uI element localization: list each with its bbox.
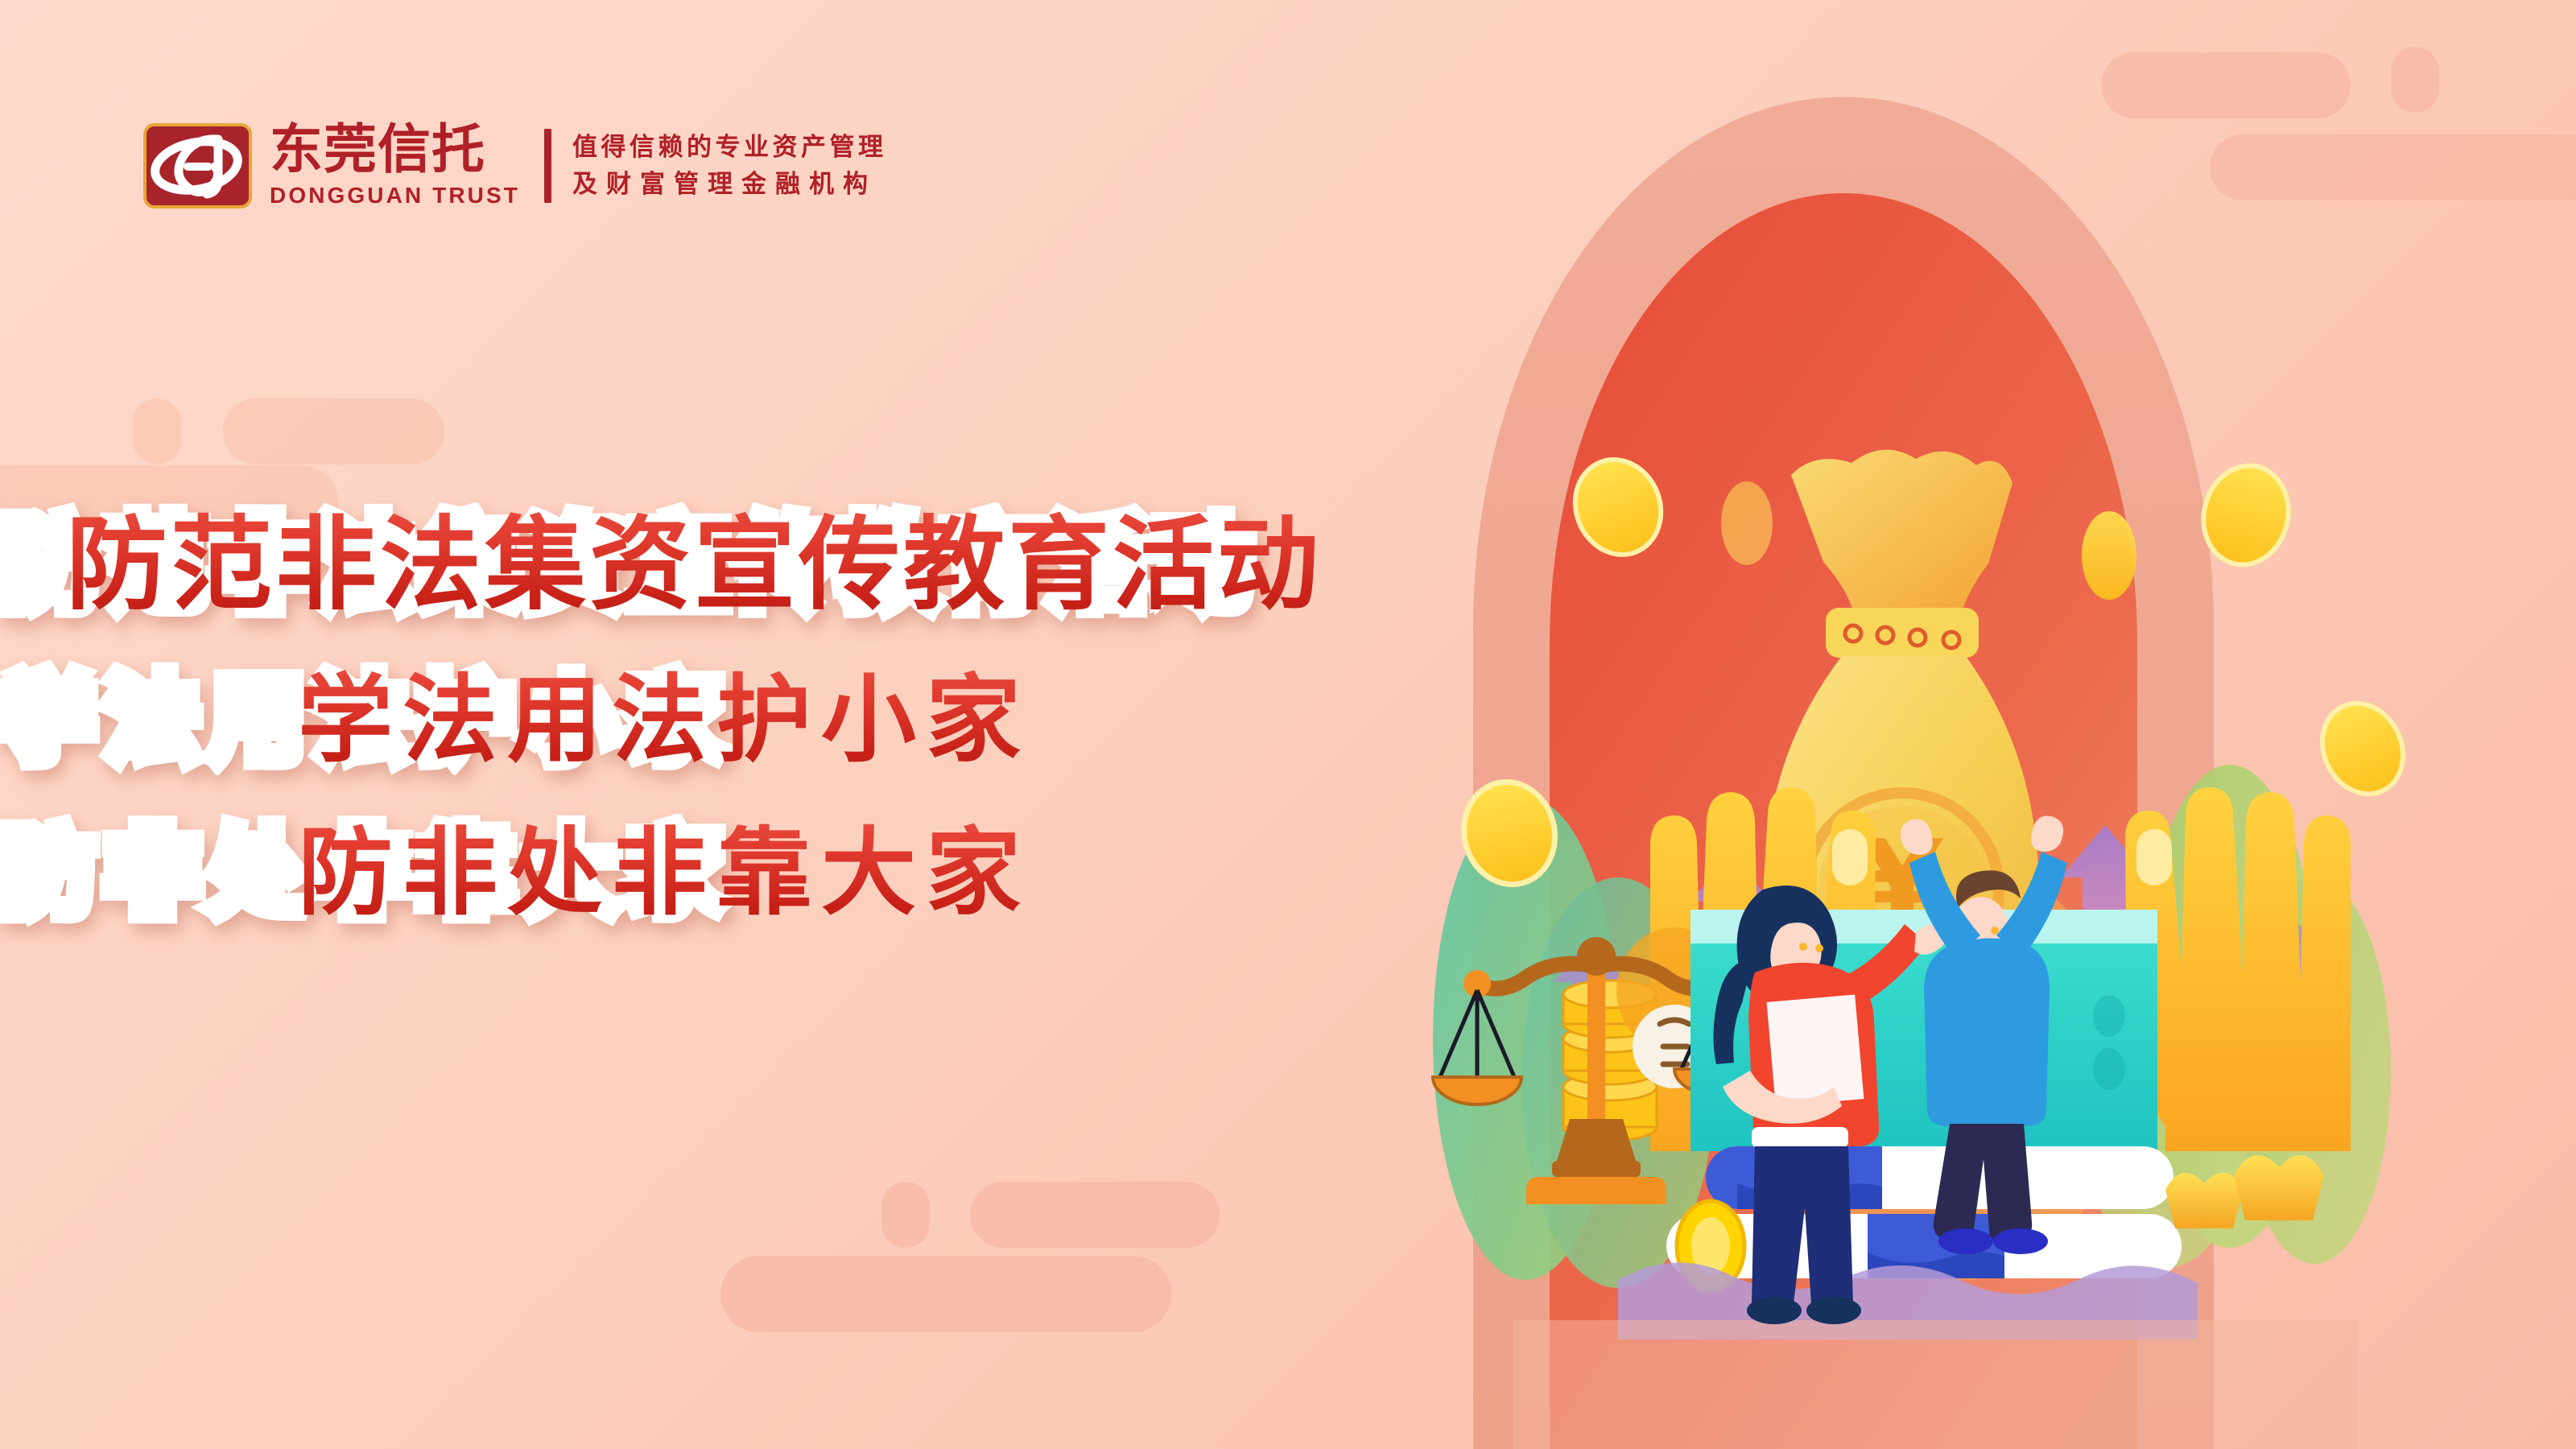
promotional-banner: ¥: [0, 0, 2576, 1449]
deco-bar-bottom-2: [720, 1256, 1171, 1332]
brand-tagline: 值得信赖的专业资产管理 及财富管理金融机构: [572, 134, 887, 198]
deco-bar-bottom-1: [970, 1182, 1220, 1248]
headline-line-3: 防非处非靠大家 防非处非靠大家: [0, 795, 1368, 916]
tagline-line-2: 及财富管理金融机构: [572, 171, 887, 198]
tagline-line-1: 值得信赖的专业资产管理: [572, 134, 887, 161]
deco-dot-left: [133, 398, 181, 464]
headline-line-1-text: 防范非法集资宣传教育活动: [66, 483, 1368, 630]
dongguan-trust-monogram-icon: [143, 123, 252, 208]
brand-logo-block[interactable]: 东莞信托 DONGGUAN TRUST 值得信赖的专业资产管理 及财富管理金融机…: [143, 122, 886, 208]
deco-bar-left-1: [223, 398, 444, 464]
brand-name-en: DONGGUAN TRUST: [270, 182, 520, 209]
finance-illustration: ¥: [1352, 0, 2576, 1449]
logo-divider: [544, 129, 551, 203]
headline-line-2: 学法用法护小家 学法用法护小家: [0, 642, 1368, 763]
headline-line-2-text: 学法用法护小家: [298, 642, 1368, 780]
headline-group: 防范非法集资宣传教育活动 防范非法集资宣传教育活动 学法用法护小家 学法用法护小…: [0, 483, 1368, 916]
deco-dot-bottom: [881, 1182, 930, 1248]
brand-name-cn: 东莞信托: [270, 122, 520, 178]
headline-line-1: 防范非法集资宣传教育活动 防范非法集资宣传教育活动: [0, 483, 1368, 612]
headline-line-3-text: 防非处非靠大家: [298, 795, 1368, 933]
